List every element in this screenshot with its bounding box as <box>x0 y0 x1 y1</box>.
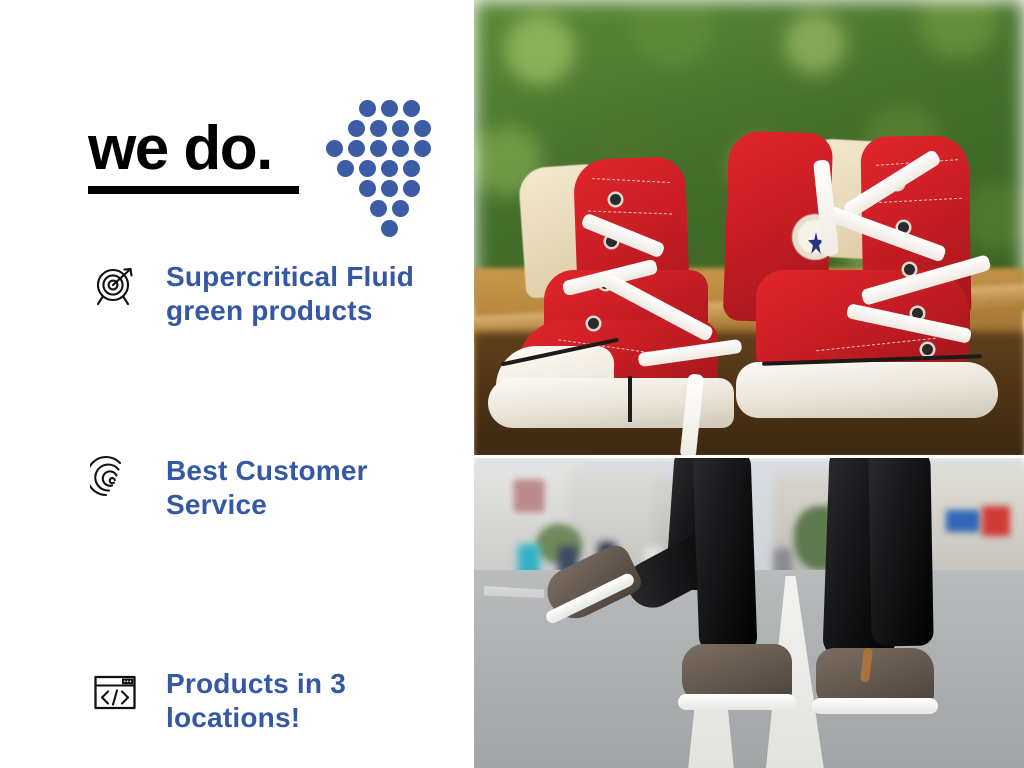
brand-dot <box>414 140 431 157</box>
brand-wordmark-group: we do. <box>88 118 303 194</box>
red-high-top-sneakers-photo <box>474 0 1024 455</box>
list-item: Supercritical Fluid green products <box>88 258 468 328</box>
page-title: we do. <box>88 118 303 180</box>
brand-dot <box>359 180 376 197</box>
brand-dot <box>403 100 420 117</box>
target-arrow-icon <box>88 258 142 312</box>
presentation-slide: we do. <box>0 0 1024 768</box>
brand-dot <box>348 140 365 157</box>
dot-triangle-mark-icon <box>326 100 454 236</box>
brand-dot <box>381 160 398 177</box>
signal-waves-icon <box>88 452 142 506</box>
brand-lockup: we do. <box>88 100 458 250</box>
title-underline <box>88 186 299 194</box>
brand-dot <box>359 100 376 117</box>
brand-dot <box>381 180 398 197</box>
brand-dot <box>381 220 398 237</box>
brand-dot <box>414 120 431 137</box>
list-item: Best Customer Service <box>88 452 468 522</box>
street-legs-sneakers-photo <box>474 458 1024 768</box>
brand-dot <box>326 140 343 157</box>
list-item-label: Best Customer Service <box>166 452 456 522</box>
brand-dot <box>403 180 420 197</box>
brand-dot <box>359 160 376 177</box>
brand-dot <box>370 140 387 157</box>
left-content-panel: we do. <box>0 0 474 768</box>
code-window-icon <box>88 665 142 719</box>
list-item: Products in 3 locations! <box>88 665 468 735</box>
brand-dot <box>348 120 365 137</box>
brand-dot <box>370 120 387 137</box>
brand-dot <box>381 100 398 117</box>
list-item-label: Supercritical Fluid green products <box>166 258 456 328</box>
brand-dot <box>337 160 354 177</box>
right-image-panel <box>474 0 1024 768</box>
brand-dot <box>403 160 420 177</box>
brand-dot <box>392 120 409 137</box>
list-item-label: Products in 3 locations! <box>166 665 456 735</box>
brand-dot <box>392 140 409 157</box>
brand-dot <box>392 200 409 217</box>
brand-dot <box>370 200 387 217</box>
